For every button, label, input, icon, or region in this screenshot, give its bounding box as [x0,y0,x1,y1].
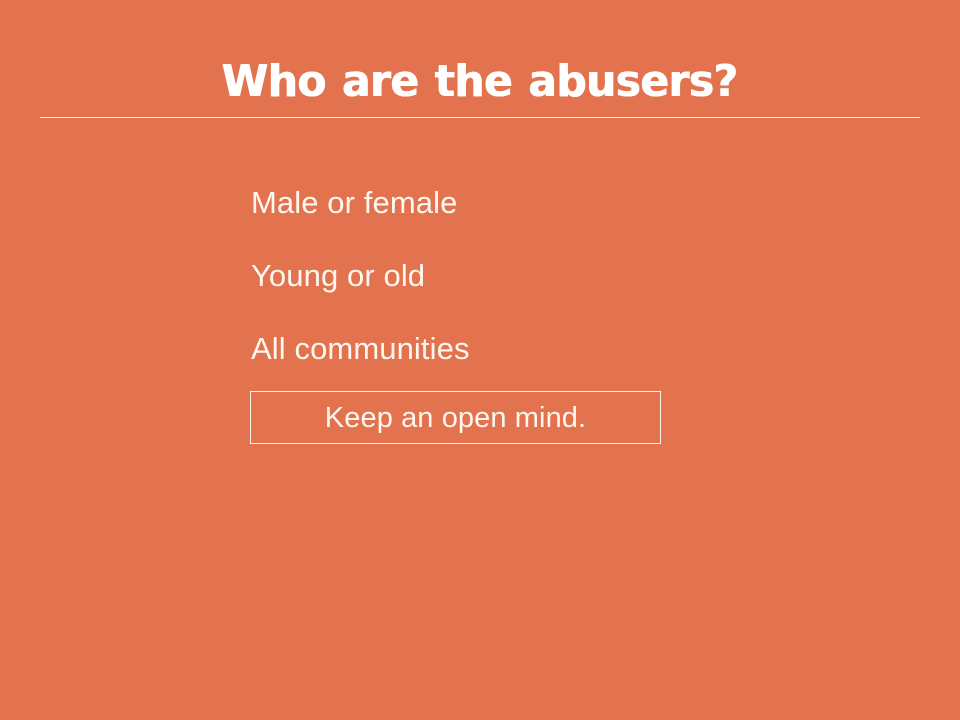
page-title: Who are the abusers? [222,56,738,108]
list-item: Male or female [251,180,911,253]
list-item: Young or old [251,253,911,326]
slide: Who are the abusers? Male or female Youn… [0,0,960,720]
list-item: All communities [251,326,911,399]
callout-text: Keep an open mind. [325,400,586,436]
callout-box: Keep an open mind. [250,391,661,444]
title-divider [40,117,920,118]
title-block: Who are the abusers? [0,56,960,108]
bullet-list: Male or female Young or old All communit… [251,180,911,399]
